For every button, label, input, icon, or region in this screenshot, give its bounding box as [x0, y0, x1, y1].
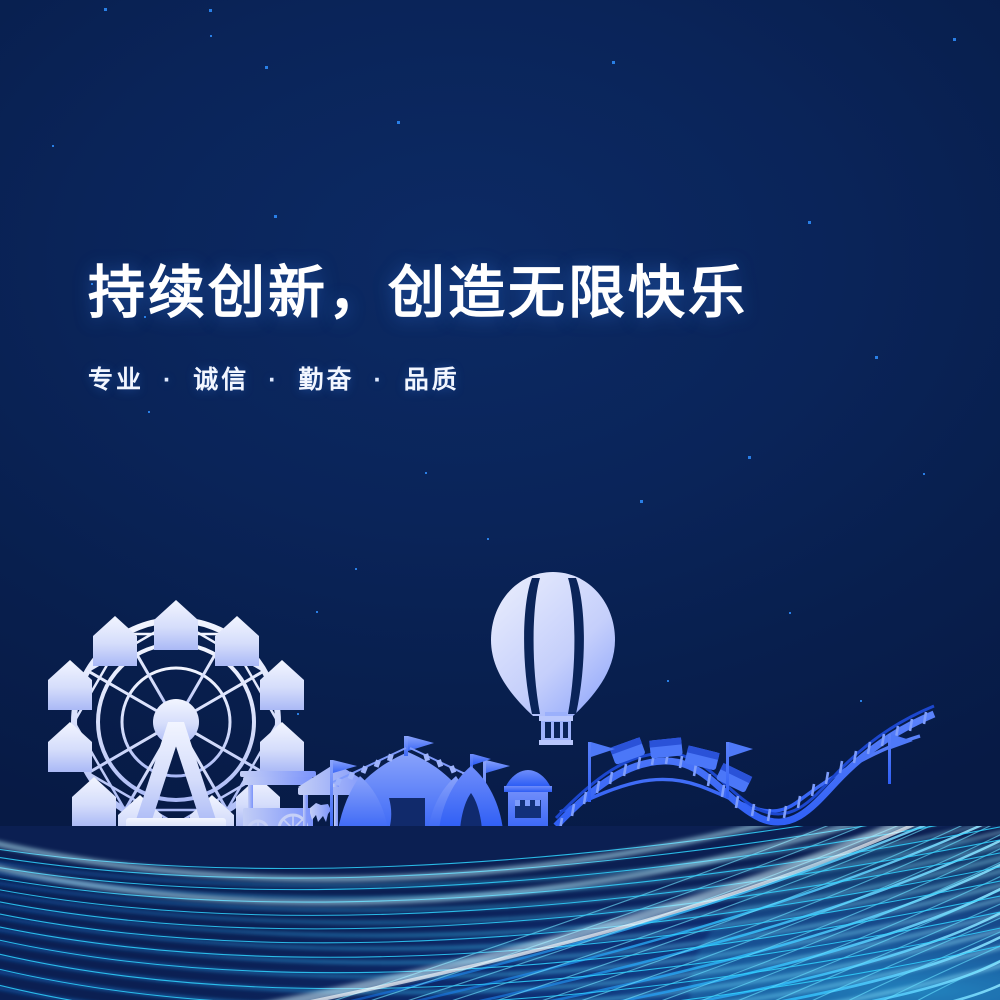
subtitle-separator: ·: [364, 366, 393, 395]
subtitle-separator: ·: [259, 366, 288, 395]
subtitle-item-1: 诚信: [193, 366, 249, 394]
subtitle-separator: ·: [154, 366, 183, 395]
page-title: 持续创新，创造无限快乐: [88, 262, 948, 326]
subtitle-item-0: 专业: [88, 366, 144, 394]
banner-canvas: 持续创新，创造无限快乐 专业 · 诚信 · 勤奋 · 品质: [0, 0, 1000, 1000]
subtitle-item-3: 品质: [404, 366, 460, 394]
headline-block: 持续创新，创造无限快乐 专业 · 诚信 · 勤奋 · 品质: [88, 262, 948, 396]
subtitle-item-2: 勤奋: [299, 366, 355, 394]
page-subtitle: 专业 · 诚信 · 勤奋 · 品质: [88, 326, 948, 396]
wave-mesh-layer: [0, 0, 1000, 1000]
